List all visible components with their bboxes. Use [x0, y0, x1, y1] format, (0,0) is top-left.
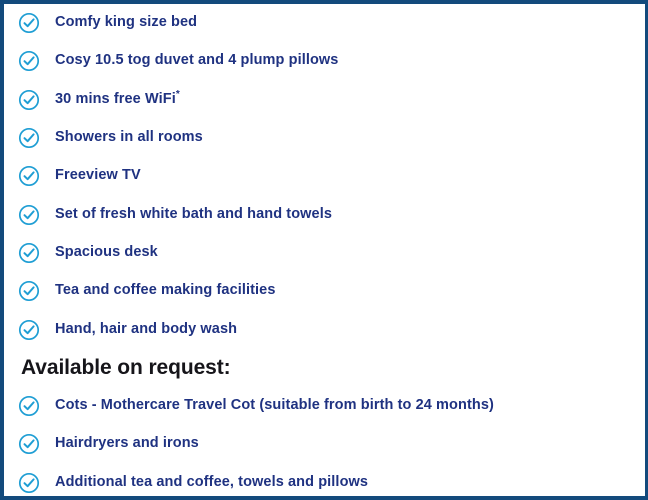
on-request-heading: Available on request:	[4, 349, 645, 387]
list-item-label: Set of fresh white bath and hand towels	[55, 207, 332, 223]
check-circle-icon	[18, 204, 40, 226]
list-item-label: 30 mins free WiFi*	[55, 92, 180, 108]
check-circle-icon	[18, 433, 40, 455]
footnote-marker: *	[176, 89, 180, 100]
list-item-label: Cots - Mothercare Travel Cot (suitable f…	[55, 398, 494, 414]
list-item-label: Cosy 10.5 tog duvet and 4 plump pillows	[55, 53, 338, 69]
check-circle-icon	[18, 319, 40, 341]
facilities-panel: Comfy king size bed Cosy 10.5 tog duvet …	[0, 0, 648, 500]
list-item: Additional tea and coffee, towels and pi…	[4, 464, 645, 500]
list-item: Hairdryers and irons	[4, 425, 645, 463]
list-item-label: Comfy king size bed	[55, 15, 197, 31]
list-item: Tea and coffee making facilities	[4, 272, 645, 310]
facilities-list: Comfy king size bed Cosy 10.5 tog duvet …	[4, 4, 645, 349]
list-item: 30 mins free WiFi*	[4, 81, 645, 119]
check-circle-icon	[18, 242, 40, 264]
list-item-label: Spacious desk	[55, 245, 158, 261]
list-item-label: Hand, hair and body wash	[55, 322, 237, 338]
panel-content: Comfy king size bed Cosy 10.5 tog duvet …	[4, 4, 645, 496]
check-circle-icon	[18, 395, 40, 417]
list-item: Set of fresh white bath and hand towels	[4, 195, 645, 233]
list-item: Cots - Mothercare Travel Cot (suitable f…	[4, 387, 645, 425]
list-item-label: Hairdryers and irons	[55, 436, 199, 452]
check-circle-icon	[18, 89, 40, 111]
on-request-list: Cots - Mothercare Travel Cot (suitable f…	[4, 387, 645, 500]
list-item: Spacious desk	[4, 234, 645, 272]
list-item: Cosy 10.5 tog duvet and 4 plump pillows	[4, 42, 645, 80]
list-item: Freeview TV	[4, 157, 645, 195]
list-item-label: Additional tea and coffee, towels and pi…	[55, 475, 368, 491]
check-circle-icon	[18, 472, 40, 494]
check-circle-icon	[18, 50, 40, 72]
check-circle-icon	[18, 12, 40, 34]
check-circle-icon	[18, 165, 40, 187]
list-item: Showers in all rooms	[4, 119, 645, 157]
check-circle-icon	[18, 127, 40, 149]
list-item-label: Tea and coffee making facilities	[55, 283, 276, 299]
list-item-label: Showers in all rooms	[55, 130, 203, 146]
list-item: Hand, hair and body wash	[4, 310, 645, 348]
list-item: Comfy king size bed	[4, 4, 645, 42]
check-circle-icon	[18, 280, 40, 302]
list-item-label: Freeview TV	[55, 168, 141, 184]
